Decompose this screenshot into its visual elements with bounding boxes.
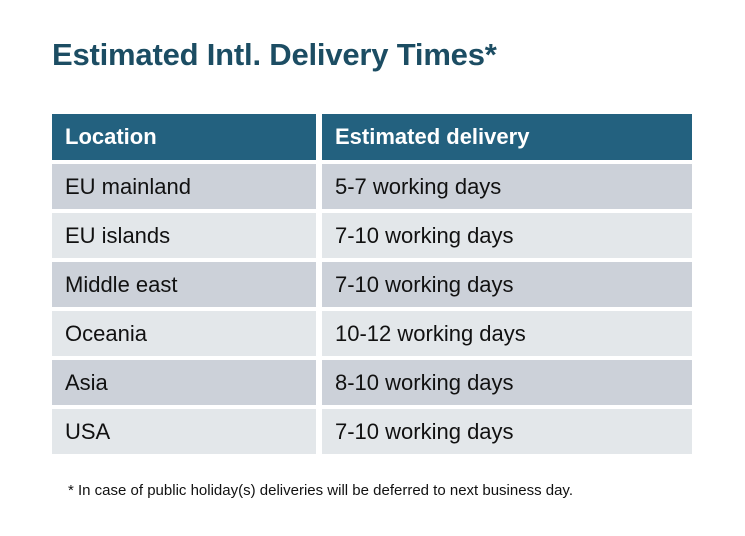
table-row: EU mainland 5-7 working days	[52, 164, 692, 209]
cell-location: Asia	[52, 360, 316, 405]
cell-location: EU mainland	[52, 164, 316, 209]
column-header-location: Location	[52, 114, 316, 160]
cell-estimated-delivery: 7-10 working days	[322, 262, 692, 307]
column-header-estimated-delivery: Estimated delivery	[322, 114, 692, 160]
table-row: Oceania 10-12 working days	[52, 311, 692, 356]
table-row: Asia 8-10 working days	[52, 360, 692, 405]
cell-location: USA	[52, 409, 316, 454]
footnote: * In case of public holiday(s) deliverie…	[68, 481, 573, 501]
delivery-times-table: Location Estimated delivery EU mainland …	[52, 114, 692, 454]
delivery-times-page: Estimated Intl. Delivery Times* Location…	[0, 0, 745, 536]
table-row: USA 7-10 working days	[52, 409, 692, 454]
page-title: Estimated Intl. Delivery Times*	[52, 36, 497, 73]
table-row: Middle east 7-10 working days	[52, 262, 692, 307]
cell-estimated-delivery: 10-12 working days	[322, 311, 692, 356]
cell-location: Middle east	[52, 262, 316, 307]
cell-location: Oceania	[52, 311, 316, 356]
cell-location: EU islands	[52, 213, 316, 258]
cell-estimated-delivery: 5-7 working days	[322, 164, 692, 209]
table-row: EU islands 7-10 working days	[52, 213, 692, 258]
cell-estimated-delivery: 7-10 working days	[322, 213, 692, 258]
table-header-row: Location Estimated delivery	[52, 114, 692, 160]
cell-estimated-delivery: 7-10 working days	[322, 409, 692, 454]
cell-estimated-delivery: 8-10 working days	[322, 360, 692, 405]
